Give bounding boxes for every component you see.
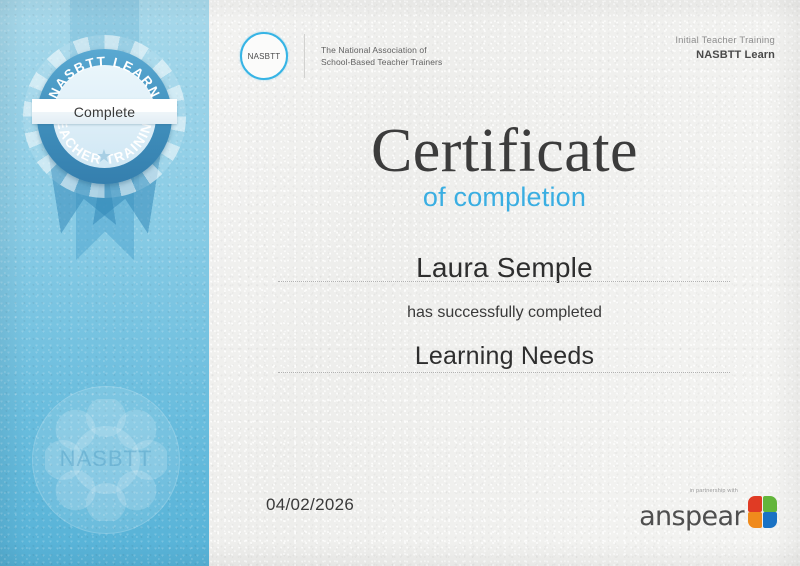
recipient-name: Laura Semple [209, 252, 800, 284]
divider-bottom [278, 372, 730, 374]
badge-banner-label: Complete [74, 104, 136, 120]
petal-bottom-left [748, 512, 762, 528]
issue-date: 04/02/2026 [266, 495, 354, 515]
star-icon: ★ [95, 147, 113, 165]
organisation-name: The National Association of School-Based… [321, 44, 442, 69]
partner-logo-block: in partnership with anspear [639, 488, 778, 530]
watermark-label: NASBTT [32, 446, 180, 472]
organisation-line-1: The National Association of [321, 44, 442, 56]
partner-caption: in partnership with [639, 488, 738, 494]
badge-arc-top-text: NASBTT LEARN [46, 54, 164, 101]
header-divider [304, 34, 305, 78]
completion-badge: NASBTT LEARN TEACHER TRAINING ★ Complete [23, 35, 186, 198]
programme-type: Initial Teacher Training [675, 35, 775, 46]
badge-banner: Complete [32, 99, 177, 124]
completion-statement: has successfully completed [209, 304, 800, 322]
petal-bottom-right [763, 512, 777, 528]
anspear-wordmark: anspear [639, 503, 744, 530]
anspear-logo: anspear [639, 496, 778, 530]
nasbtt-circle-icon: NASBTT [240, 32, 288, 80]
certificate-title: Certificate [209, 116, 800, 187]
programme-platform: NASBTT Learn [675, 49, 775, 61]
course-name: Learning Needs [209, 342, 800, 371]
certificate-subtitle: of completion [209, 182, 800, 213]
nasbtt-watermark: NASBTT [32, 386, 180, 534]
petal-top-right [763, 496, 777, 512]
divider-top [278, 281, 730, 283]
anspear-petal-icon [748, 496, 778, 528]
certificate-page: NASBTT LEARN TEACHER TRAINING ★ Complete [0, 0, 800, 566]
petal-top-left [748, 496, 762, 512]
left-decorative-panel: NASBTT LEARN TEACHER TRAINING ★ Complete [0, 0, 209, 566]
nasbtt-header-logo: NASBTT The National Association of Schoo… [240, 32, 442, 80]
nasbtt-mark-label: NASBTT [248, 52, 281, 61]
programme-label: Initial Teacher Training NASBTT Learn [675, 35, 775, 61]
organisation-line-2: School-Based Teacher Trainers [321, 56, 442, 68]
